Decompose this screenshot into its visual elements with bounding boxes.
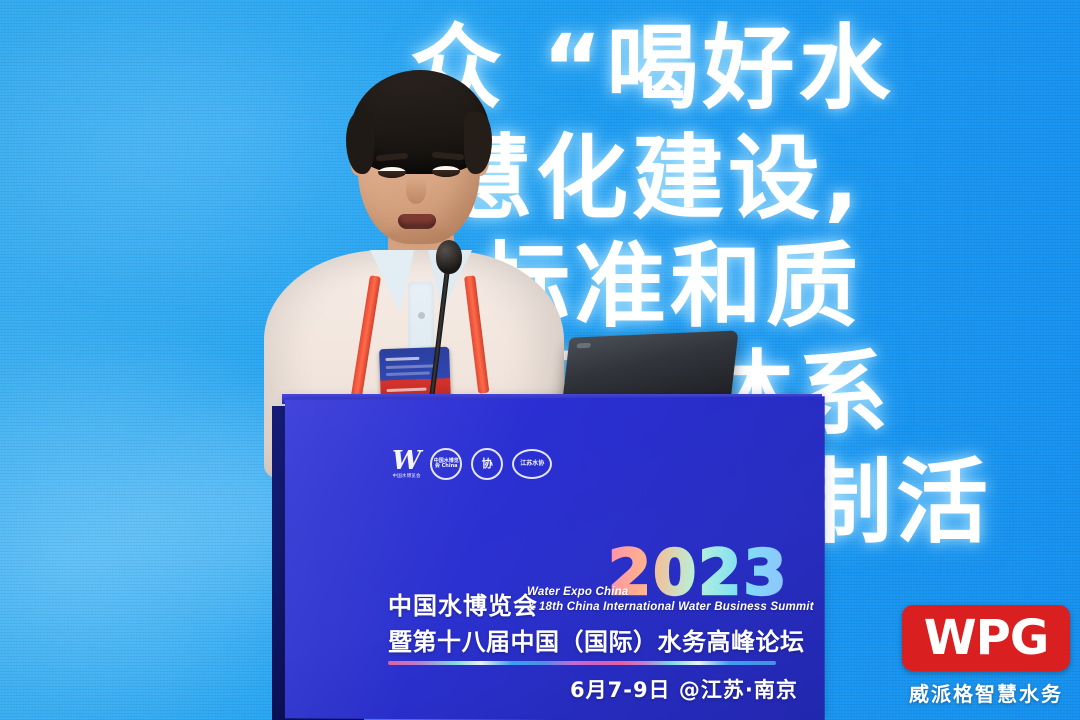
gradient-divider-bar: [388, 661, 776, 665]
wpg-logo-box: WPG: [902, 605, 1070, 671]
roundel-text: 江苏水协: [520, 461, 544, 467]
laptop-hinge: [576, 343, 591, 349]
event-title-cn-primary: 中国水博览会: [388, 586, 538, 621]
wce-w-caption: 中国水博览会: [393, 475, 421, 480]
speaker-hair-side-left: [346, 112, 374, 174]
wpg-watermark: WPG 威派格智慧水务: [898, 602, 1074, 710]
event-title-cn-secondary: 暨第十八届中国（国际）水务高峰论坛: [388, 622, 805, 657]
wpg-brand-cn: 威派格智慧水务: [909, 678, 1063, 707]
badge-name-line: [386, 388, 426, 392]
microphone-icon: [436, 240, 462, 274]
event-title-en-line1: Water Expo China: [527, 585, 814, 600]
speaker-eye-left: [378, 167, 406, 178]
roundel-text: 中国水博览会 China: [432, 459, 460, 470]
speaker-mouth: [398, 214, 436, 229]
shirt-button: [418, 312, 425, 319]
jiangsu-roundel-icon: 江苏水协: [512, 449, 552, 479]
speaker-chin-shadow: [386, 228, 450, 244]
event-date-location: 6月7-9日 @江苏·南京: [570, 674, 798, 704]
organizer-logo-row: W中国水博览会 中国水博览会 China 协 江苏水协: [392, 440, 562, 488]
conference-photo: 众 “喝好水 慧化建设, 标准和质 服务体系 制活: [0, 0, 1080, 720]
event-title-en: Water Expo China & 18th China Internatio…: [527, 585, 814, 614]
badge-textline: [385, 357, 419, 361]
wce-w-mark-icon: W中国水博览会: [392, 448, 421, 480]
speaker-figure: [250, 50, 580, 430]
association-roundel-icon: 协: [471, 448, 503, 480]
speaker-nose: [406, 178, 426, 204]
wpg-brand-text: WPG: [924, 614, 1049, 662]
badge-textline: [386, 364, 436, 369]
roundel-text: 协: [482, 458, 493, 470]
event-title-en-line2: & 18th China International Water Busines…: [527, 600, 814, 615]
badge-textline: [386, 371, 430, 376]
water-expo-china-roundel-icon: 中国水博览会 China: [430, 448, 462, 480]
speaker-eye-right: [432, 166, 460, 177]
